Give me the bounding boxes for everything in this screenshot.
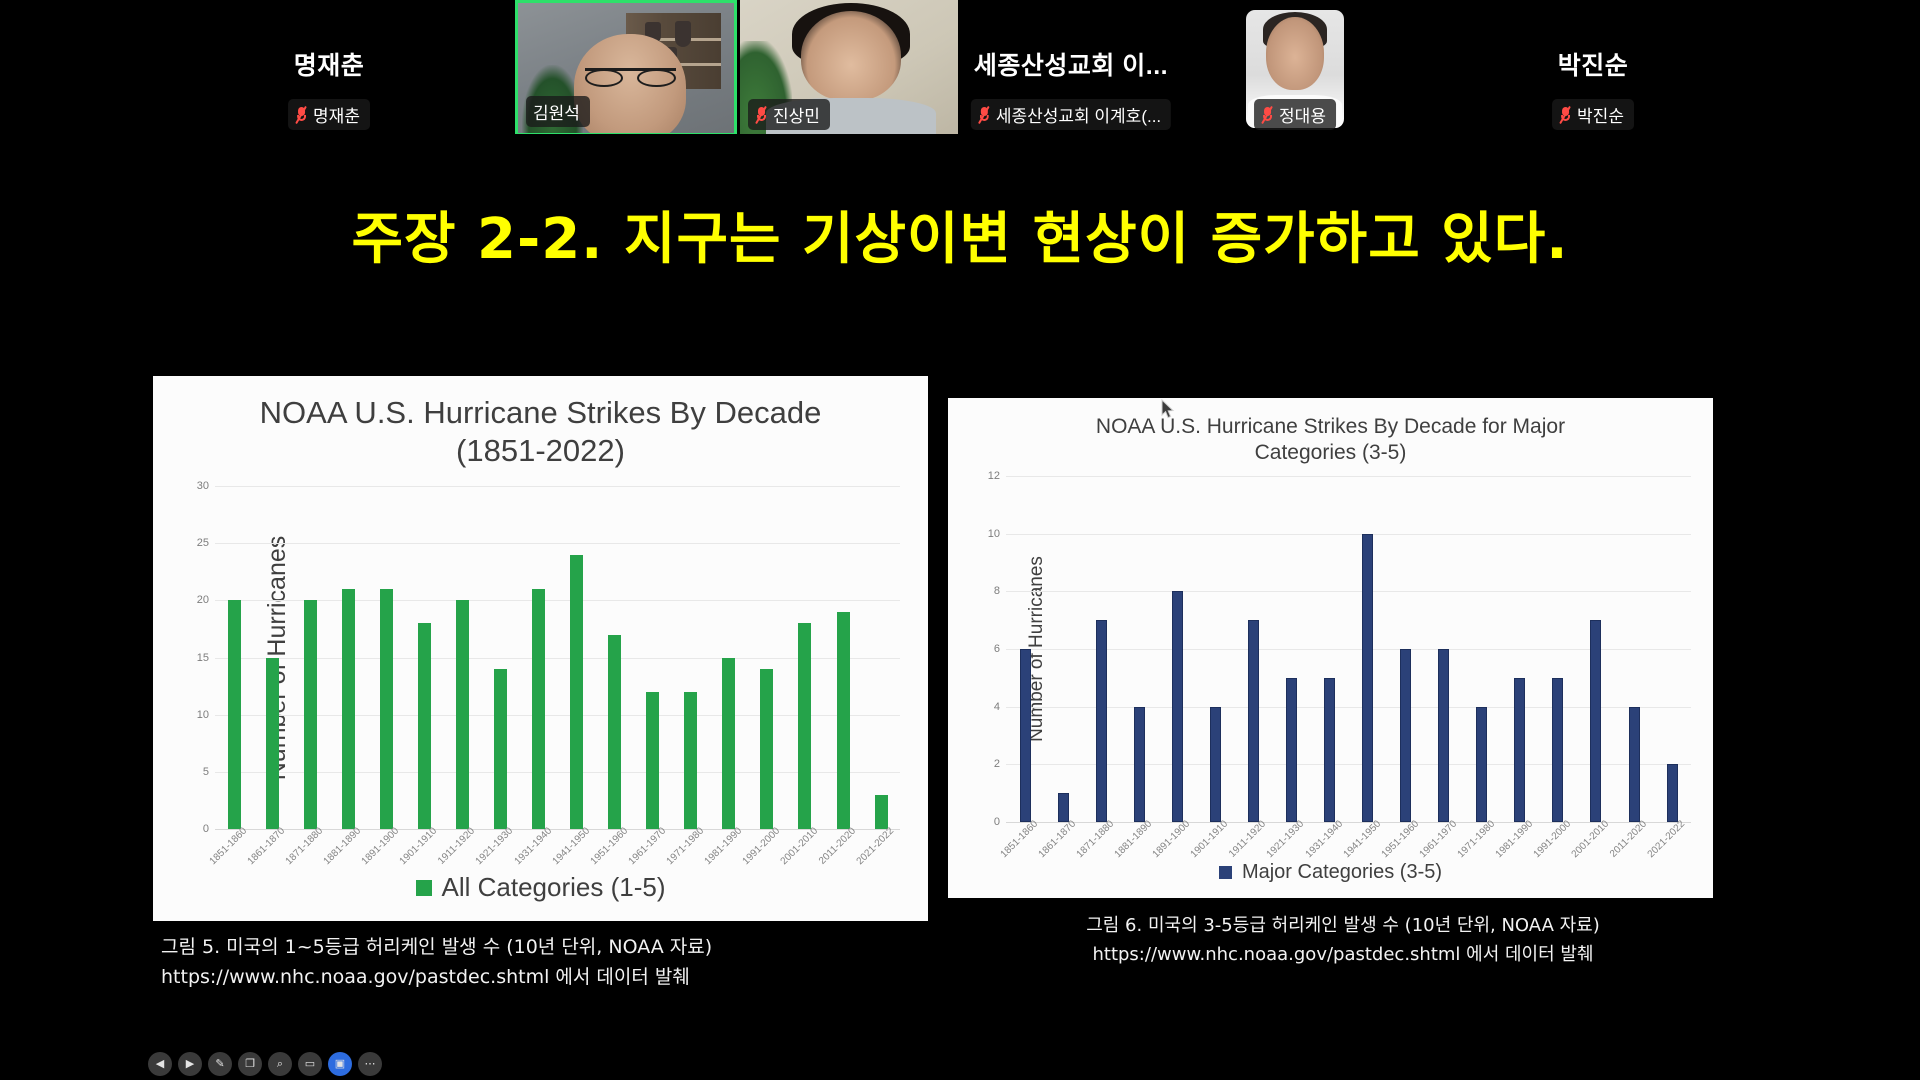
figure-caption-right-line1: 그림 6. 미국의 3-5등급 허리케인 발생 수 (10년 단위, NOAA … bbox=[963, 912, 1723, 941]
bar-slot bbox=[1158, 476, 1196, 822]
x-axis-tick-label: 1851-1860 bbox=[999, 819, 1041, 861]
bar bbox=[1210, 707, 1221, 822]
chart-title: NOAA U.S. Hurricane Strikes By Decade fo… bbox=[948, 398, 1713, 465]
participant-badge-label: 정대용 bbox=[1279, 102, 1326, 127]
participant-badge-label: 세종산성교회 이계호(... bbox=[996, 102, 1161, 127]
microphone-muted-icon bbox=[755, 106, 768, 123]
chart-title-line1: NOAA U.S. Hurricane Strikes By Decade fo… bbox=[1028, 414, 1633, 440]
bar-slot bbox=[253, 486, 291, 829]
bar-slot bbox=[1577, 476, 1615, 822]
x-axis-tick-label: 1911-1920 bbox=[1227, 819, 1268, 860]
chart-legend: All Categories (1-5) bbox=[153, 872, 928, 903]
bar-slot bbox=[1196, 476, 1234, 822]
microphone-muted-icon bbox=[1261, 106, 1274, 123]
participant-name-badge: 세종산성교회 이계호(... bbox=[971, 99, 1171, 130]
y-axis-tick-label: 25 bbox=[197, 537, 209, 549]
bar-slot bbox=[1311, 476, 1349, 822]
participant-badge-label: 명재춘 bbox=[313, 102, 360, 127]
next-slide-icon[interactable]: ▶ bbox=[178, 1052, 202, 1076]
previous-slide-icon[interactable]: ◀ bbox=[148, 1052, 172, 1076]
figure-caption-left-line2: https://www.nhc.noaa.gov/pastdec.shtml 에… bbox=[161, 962, 921, 992]
microphone-muted-icon bbox=[978, 106, 991, 123]
bar bbox=[608, 635, 621, 829]
bar bbox=[798, 623, 811, 829]
bar bbox=[532, 589, 545, 829]
participant-display-name: 박진순 bbox=[1408, 46, 1778, 82]
bar bbox=[1667, 764, 1678, 822]
participant-name-badge: 진상민 bbox=[748, 99, 830, 130]
legend-swatch-icon bbox=[416, 880, 432, 896]
y-axis-tick-label: 0 bbox=[994, 816, 1000, 828]
y-axis-tick-label: 2 bbox=[994, 758, 1000, 770]
bar bbox=[837, 612, 850, 829]
figure-caption-left-line1: 그림 5. 미국의 1~5등급 허리케인 발생 수 (10년 단위, NOAA … bbox=[161, 932, 921, 962]
chart-title-line2: (1851-2022) bbox=[223, 432, 858, 470]
bar-slot bbox=[367, 486, 405, 829]
participant-tile-2[interactable]: 진상민 bbox=[740, 0, 958, 136]
y-axis-tick-label: 4 bbox=[994, 701, 1000, 713]
bar bbox=[418, 623, 431, 829]
bar bbox=[722, 658, 735, 830]
video-camera-icon[interactable]: ▣ bbox=[328, 1052, 352, 1076]
participant-display-name: 명재춘 bbox=[143, 46, 515, 82]
bar-slot bbox=[1425, 476, 1463, 822]
annotation-toolbar[interactable]: ◀▶✎❐⌕▭▣⋯ bbox=[148, 1052, 382, 1076]
x-axis-tick-label: 1911-1920 bbox=[436, 826, 477, 867]
bar-slot bbox=[1234, 476, 1272, 822]
bar-slot bbox=[1463, 476, 1501, 822]
bar-slot bbox=[634, 486, 672, 829]
microphone-muted-icon bbox=[295, 106, 308, 123]
bar-slot bbox=[558, 486, 596, 829]
participant-tile-1[interactable]: 김원석 bbox=[515, 0, 737, 136]
bar-slot bbox=[748, 486, 786, 829]
x-axis-tick-label: 2011-2020 bbox=[817, 826, 858, 867]
bar bbox=[342, 589, 355, 829]
bar bbox=[456, 600, 469, 829]
y-axis-tick-label: 10 bbox=[197, 709, 209, 721]
bar bbox=[1058, 793, 1069, 822]
participant-tile-3[interactable]: 세종산성교회 이... 세종산성교회 이계호(... bbox=[960, 0, 1182, 136]
bar bbox=[1400, 649, 1411, 822]
bar-slot bbox=[1349, 476, 1387, 822]
bar-slot bbox=[1501, 476, 1539, 822]
participant-name-badge: 명재춘 bbox=[288, 99, 370, 130]
bar-slot bbox=[824, 486, 862, 829]
participant-tile-4[interactable]: 정대용 bbox=[1184, 0, 1406, 136]
bar bbox=[1590, 620, 1601, 822]
bar bbox=[1362, 534, 1373, 822]
bar bbox=[1629, 707, 1640, 822]
participant-name-badge: 정대용 bbox=[1254, 99, 1336, 130]
bar bbox=[1286, 678, 1297, 822]
bar bbox=[266, 658, 279, 830]
legend-swatch-icon bbox=[1219, 866, 1232, 879]
y-axis-tick-label: 15 bbox=[197, 652, 209, 664]
page-title: 주장 2-2. 지구는 기상이변 현상이 증가하고 있다. bbox=[143, 194, 1777, 275]
bar-slot bbox=[481, 486, 519, 829]
legend-label: Major Categories (3-5) bbox=[1242, 861, 1442, 884]
bar bbox=[1476, 707, 1487, 822]
bar bbox=[304, 600, 317, 829]
bar-slot bbox=[1272, 476, 1310, 822]
y-axis-tick-label: 0 bbox=[203, 823, 209, 835]
x-axis-tick-label: 1851-1860 bbox=[208, 826, 250, 868]
y-axis-tick-label: 5 bbox=[203, 766, 209, 778]
bar bbox=[684, 692, 697, 829]
bar-slot bbox=[1653, 476, 1691, 822]
video-participant-strip: 명재춘 명재춘 bbox=[0, 0, 1920, 136]
bar-slot bbox=[1082, 476, 1120, 822]
bar-slot bbox=[291, 486, 329, 829]
bar bbox=[1514, 678, 1525, 822]
bar bbox=[380, 589, 393, 829]
chart-title-line1: NOAA U.S. Hurricane Strikes By Decade bbox=[223, 394, 858, 432]
bar bbox=[1096, 620, 1107, 822]
bar bbox=[1172, 591, 1183, 822]
participant-tile-0[interactable]: 명재춘 명재춘 bbox=[143, 0, 515, 136]
bar-slot bbox=[786, 486, 824, 829]
chart-right: NOAA U.S. Hurricane Strikes By Decade fo… bbox=[948, 398, 1713, 898]
participant-display-name: 세종산성교회 이... bbox=[960, 46, 1182, 82]
bar bbox=[228, 600, 241, 829]
spotlight-zoom-icon[interactable]: ⌕ bbox=[268, 1052, 292, 1076]
y-axis-tick-label: 6 bbox=[994, 643, 1000, 655]
y-axis-tick-label: 10 bbox=[988, 528, 1000, 540]
participant-name-badge: 박진순 bbox=[1552, 99, 1634, 130]
figure-caption-right: 그림 6. 미국의 3-5등급 허리케인 발생 수 (10년 단위, NOAA … bbox=[963, 912, 1723, 970]
bar-slot bbox=[1120, 476, 1158, 822]
bar bbox=[494, 669, 507, 829]
y-axis-tick-label: 30 bbox=[197, 480, 209, 492]
y-axis-tick-label: 8 bbox=[994, 585, 1000, 597]
bar-slot bbox=[405, 486, 443, 829]
pen-annotate-icon[interactable]: ✎ bbox=[208, 1052, 232, 1076]
bar-slot bbox=[329, 486, 367, 829]
bar bbox=[570, 555, 583, 829]
bar-slot bbox=[1006, 476, 1044, 822]
participant-badge-label: 박진순 bbox=[1577, 102, 1624, 127]
chart-title: NOAA U.S. Hurricane Strikes By Decade (1… bbox=[153, 376, 928, 470]
bar-slot bbox=[672, 486, 710, 829]
bar bbox=[760, 669, 773, 829]
figure-caption-left: 그림 5. 미국의 1~5등급 허리케인 발생 수 (10년 단위, NOAA … bbox=[161, 932, 921, 993]
keyboard-icon[interactable]: ▭ bbox=[298, 1052, 322, 1076]
bar-slot bbox=[215, 486, 253, 829]
bar-slot bbox=[1387, 476, 1425, 822]
bar-slot bbox=[1615, 476, 1653, 822]
bar bbox=[1552, 678, 1563, 822]
bar bbox=[646, 692, 659, 829]
bar-slot bbox=[710, 486, 748, 829]
chart-legend: Major Categories (3-5) bbox=[948, 861, 1713, 884]
copy-duplicate-icon[interactable]: ❐ bbox=[238, 1052, 262, 1076]
participant-name-badge: 김원석 bbox=[526, 96, 590, 127]
figure-caption-right-line2: https://www.nhc.noaa.gov/pastdec.shtml 에… bbox=[963, 941, 1723, 970]
bar bbox=[875, 795, 888, 829]
microphone-muted-icon bbox=[1559, 106, 1572, 123]
bar bbox=[1324, 678, 1335, 822]
bar-slot bbox=[596, 486, 634, 829]
chart-left: NOAA U.S. Hurricane Strikes By Decade (1… bbox=[153, 376, 928, 921]
bar-series-left bbox=[215, 486, 900, 829]
legend-label: All Categories (1-5) bbox=[442, 872, 666, 903]
bar-slot bbox=[1044, 476, 1082, 822]
plot-area-left: 051015202530 1851-18601861-18701871-1880… bbox=[215, 486, 900, 829]
bar bbox=[1134, 707, 1145, 822]
participant-badge-label: 김원석 bbox=[533, 99, 580, 124]
chart-title-line2: Categories (3-5) bbox=[1028, 440, 1633, 466]
bar-series-right bbox=[1006, 476, 1691, 822]
participant-tile-5[interactable]: 박진순 박진순 bbox=[1408, 0, 1778, 136]
more-options-icon[interactable]: ⋯ bbox=[358, 1052, 382, 1076]
bar-slot bbox=[862, 486, 900, 829]
shared-screen-slide: 주장 2-2. 지구는 기상이변 현상이 증가하고 있다. NOAA U.S. … bbox=[143, 134, 1777, 1030]
bar bbox=[1020, 649, 1031, 822]
x-axis-tick-label: 2011-2020 bbox=[1608, 819, 1649, 860]
screen: 명재춘 명재춘 bbox=[0, 0, 1920, 1080]
y-axis-tick-label: 12 bbox=[988, 470, 1000, 482]
y-axis-tick-label: 20 bbox=[197, 594, 209, 606]
bar-slot bbox=[1539, 476, 1577, 822]
bar bbox=[1248, 620, 1259, 822]
participant-badge-label: 진상민 bbox=[773, 102, 820, 127]
bar bbox=[1438, 649, 1449, 822]
bar-slot bbox=[520, 486, 558, 829]
bar-slot bbox=[443, 486, 481, 829]
plot-area-right: 024681012 1851-18601861-18701871-1880188… bbox=[1006, 476, 1691, 822]
